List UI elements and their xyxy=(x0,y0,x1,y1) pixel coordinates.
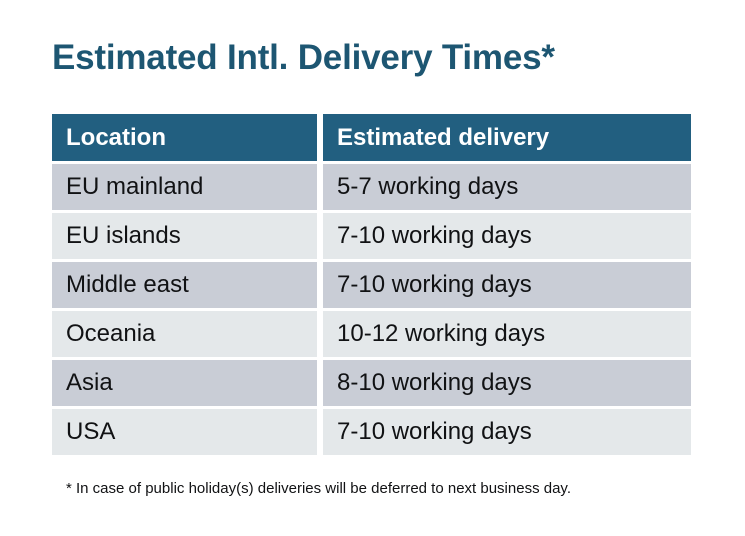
cell-location: EU islands xyxy=(52,213,317,259)
delivery-times-page: Estimated Intl. Delivery Times* Location… xyxy=(0,0,745,536)
cell-location: Middle east xyxy=(52,262,317,308)
cell-location: Asia xyxy=(52,360,317,406)
cell-location: EU mainland xyxy=(52,164,317,210)
cell-estimated-delivery: 10-12 working days xyxy=(323,311,691,357)
cell-estimated-delivery: 8-10 working days xyxy=(323,360,691,406)
column-header-estimated-delivery: Estimated delivery xyxy=(323,114,691,161)
cell-estimated-delivery: 7-10 working days xyxy=(323,262,691,308)
footnote: * In case of public holiday(s) deliverie… xyxy=(66,479,571,499)
estimated-delivery-table: Location Estimated delivery EU mainland … xyxy=(52,114,691,455)
table-row: Asia 8-10 working days xyxy=(52,360,691,406)
table-header-row: Location Estimated delivery xyxy=(52,114,691,161)
column-header-location: Location xyxy=(52,114,317,161)
table-row: Middle east 7-10 working days xyxy=(52,262,691,308)
table-row: EU islands 7-10 working days xyxy=(52,213,691,259)
cell-location: USA xyxy=(52,409,317,455)
cell-estimated-delivery: 7-10 working days xyxy=(323,213,691,259)
cell-estimated-delivery: 5-7 working days xyxy=(323,164,691,210)
table-row: USA 7-10 working days xyxy=(52,409,691,455)
cell-location: Oceania xyxy=(52,311,317,357)
cell-estimated-delivery: 7-10 working days xyxy=(323,409,691,455)
table-row: EU mainland 5-7 working days xyxy=(52,164,691,210)
page-title: Estimated Intl. Delivery Times* xyxy=(52,36,555,80)
table-row: Oceania 10-12 working days xyxy=(52,311,691,357)
